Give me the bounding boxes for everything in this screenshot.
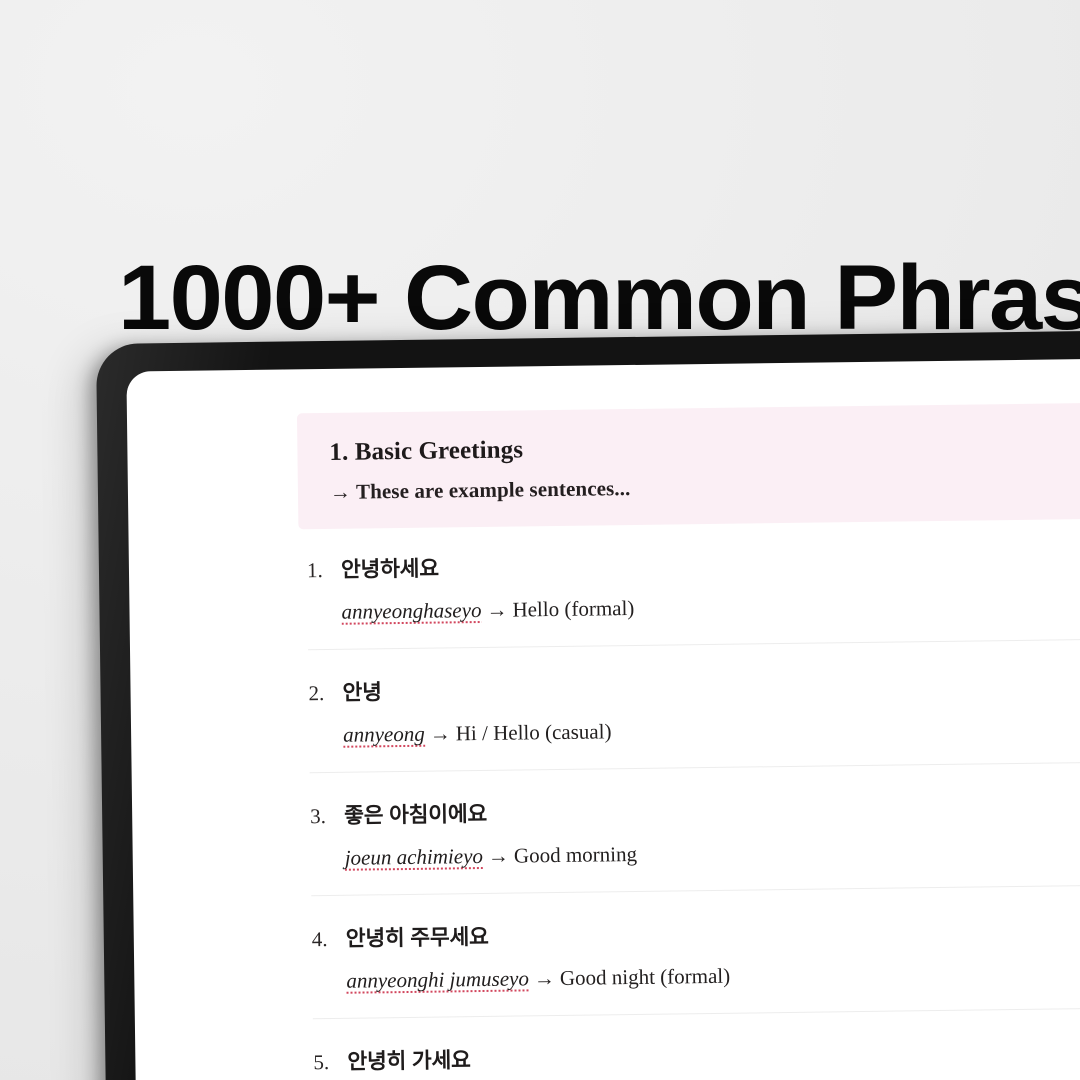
- phrase-korean: 안녕하세요: [341, 552, 439, 584]
- phrase-number: 2.: [308, 681, 328, 706]
- phrase-english: Good morning: [514, 842, 637, 868]
- arrow-icon: →: [529, 966, 560, 990]
- headline: 1000+ Common Phrases: [118, 252, 1080, 344]
- phrase-entry: 3.좋은 아침이에요joeun achimieyo→Good morning: [310, 784, 1080, 896]
- phrase-number: 3.: [310, 804, 330, 829]
- phrase-heading: 4.안녕히 주무세요: [312, 911, 1080, 953]
- phrase-heading: 2.안녕: [308, 665, 1080, 707]
- phrase-korean: 안녕: [342, 675, 382, 707]
- document-page: 1. Basic Greetings → These are example s…: [126, 357, 1080, 1080]
- arrow-icon: →: [481, 598, 512, 622]
- phrase-translation-line: annyeong→Hi / Hello (casual): [343, 712, 1080, 748]
- phrase-divider: [313, 1007, 1080, 1019]
- phrase-korean: 안녕히 가세요: [347, 1043, 471, 1076]
- phrase-romanization: annyeong: [343, 722, 425, 749]
- arrow-icon: →: [483, 844, 514, 868]
- phrase-translation-line: annyeonghi jumuseyo→Good night (formal): [346, 958, 1080, 994]
- phrase-translation-line: joeun achimieyo→Good morning: [345, 835, 1080, 871]
- section-title: 1. Basic Greetings: [329, 428, 1080, 467]
- phrase-english: Hi / Hello (casual): [456, 719, 612, 745]
- phrase-entry: 5.안녕히 가세요annyeonghi gaseyo→Goodbye (to s…: [313, 1030, 1080, 1080]
- phrase-korean: 안녕히 주무세요: [346, 920, 489, 953]
- phrase-english: Good night (formal): [560, 964, 731, 990]
- phrase-entry: 1.안녕하세요annyeonghaseyo→Hello (formal): [307, 538, 1080, 650]
- phrase-romanization: annyeonghi jumuseyo: [346, 966, 529, 994]
- tablet-bezel: 1. Basic Greetings → These are example s…: [96, 329, 1080, 1080]
- phrase-english: Hello (formal): [512, 596, 634, 622]
- section-header-card: 1. Basic Greetings → These are example s…: [297, 402, 1080, 529]
- phrase-translation-line: annyeonghaseyo→Hello (formal): [341, 589, 1080, 625]
- section-subtitle: → These are example sentences...: [330, 469, 1080, 505]
- phrase-number: 5.: [313, 1050, 333, 1075]
- phrase-entry: 2.안녕annyeong→Hi / Hello (casual): [308, 661, 1080, 773]
- phrase-entry: 4.안녕히 주무세요annyeonghi jumuseyo→Good night…: [312, 907, 1080, 1019]
- phrase-korean: 좋은 아침이에요: [344, 797, 487, 830]
- phrase-divider: [308, 638, 1080, 650]
- phrase-number: 4.: [312, 927, 332, 952]
- phrase-romanization: annyeonghaseyo: [341, 598, 481, 626]
- phrase-number: 1.: [307, 558, 327, 583]
- phrase-divider: [310, 761, 1080, 773]
- phrase-romanization: joeun achimieyo: [345, 844, 484, 872]
- tablet-screen[interactable]: 1. Basic Greetings → These are example s…: [126, 357, 1080, 1080]
- promo-graphic: 1000+ Common Phrases 1. Basic Greetings …: [0, 0, 1080, 1080]
- phrase-heading: 1.안녕하세요: [307, 542, 1080, 584]
- phrase-heading: 3.좋은 아침이에요: [310, 788, 1080, 830]
- phrase-divider: [311, 884, 1080, 896]
- arrow-icon: →: [425, 721, 456, 745]
- phrase-heading: 5.안녕히 가세요: [313, 1034, 1080, 1076]
- phrase-list: 1.안녕하세요annyeonghaseyo→Hello (formal)2.안녕…: [129, 537, 1080, 1080]
- tablet-device: 1. Basic Greetings → These are example s…: [96, 329, 1080, 1080]
